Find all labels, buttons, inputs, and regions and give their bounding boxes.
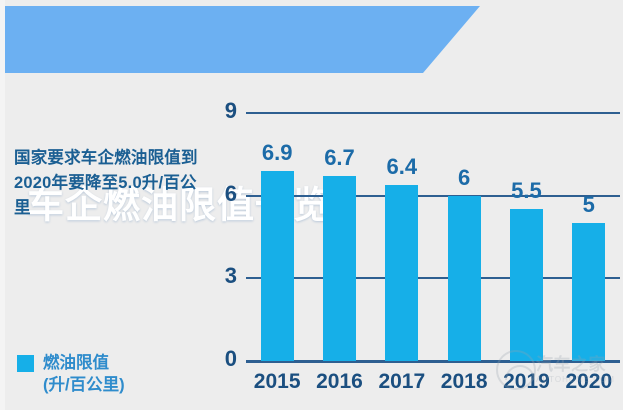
bar-value-2019: 5.5 xyxy=(511,180,542,202)
x-axis-tick-2019: 2019 xyxy=(503,371,550,392)
bar-2018[interactable] xyxy=(448,196,481,361)
bar-2016[interactable] xyxy=(323,176,356,361)
x-axis-tick-2020: 2020 xyxy=(565,371,612,392)
bar-value-2020: 5 xyxy=(583,194,595,216)
x-axis-tick-2016: 2016 xyxy=(316,371,363,392)
bar-value-2017: 6.4 xyxy=(387,156,418,178)
y-axis-tick-9: 9 xyxy=(225,100,237,122)
infographic-root: 车企燃油限值一览 国家要求车企燃油限值到2020年要降至5.0升/百公里 燃油限… xyxy=(0,0,630,410)
chart-legend: 燃油限值 (升/百公里) xyxy=(17,352,125,397)
bar-value-2018: 6 xyxy=(458,167,470,189)
legend-label: 燃油限值 (升/百公里) xyxy=(43,352,125,397)
bar-group-2015: 6.92015 xyxy=(247,113,308,361)
bar-value-2015: 6.9 xyxy=(262,142,293,164)
bar-group-2017: 6.42017 xyxy=(371,113,432,361)
bar-2015[interactable] xyxy=(261,171,294,361)
bar-series: 6.920156.720166.42017620185.5201952020 xyxy=(246,113,620,361)
legend-swatch-icon xyxy=(17,355,34,372)
y-axis-tick-3: 3 xyxy=(225,265,237,287)
bar-group-2016: 6.72016 xyxy=(309,113,370,361)
bar-2017[interactable] xyxy=(385,185,418,361)
right-edge-strip xyxy=(623,0,630,410)
bar-group-2018: 62018 xyxy=(434,113,495,361)
y-axis-tick-0: 0 xyxy=(225,348,237,370)
bar-group-2020: 52020 xyxy=(558,113,619,361)
bar-value-2016: 6.7 xyxy=(324,147,355,169)
plot-area: 0369 6.920156.720166.42017620185.5201952… xyxy=(246,113,620,361)
title-banner xyxy=(5,6,480,73)
bar-2019[interactable] xyxy=(510,209,543,361)
bar-group-2019: 5.52019 xyxy=(496,113,557,361)
y-axis-tick-6: 6 xyxy=(225,183,237,205)
x-axis-tick-2015: 2015 xyxy=(254,371,301,392)
x-axis-tick-2018: 2018 xyxy=(441,371,488,392)
side-note-text: 国家要求车企燃油限值到2020年要降至5.0升/百公里 xyxy=(14,146,204,220)
left-edge-strip xyxy=(0,0,5,410)
bar-2020[interactable] xyxy=(572,223,605,361)
x-axis-tick-2017: 2017 xyxy=(378,371,425,392)
bar-chart: 0369 6.920156.720166.42017620185.5201952… xyxy=(215,100,620,400)
